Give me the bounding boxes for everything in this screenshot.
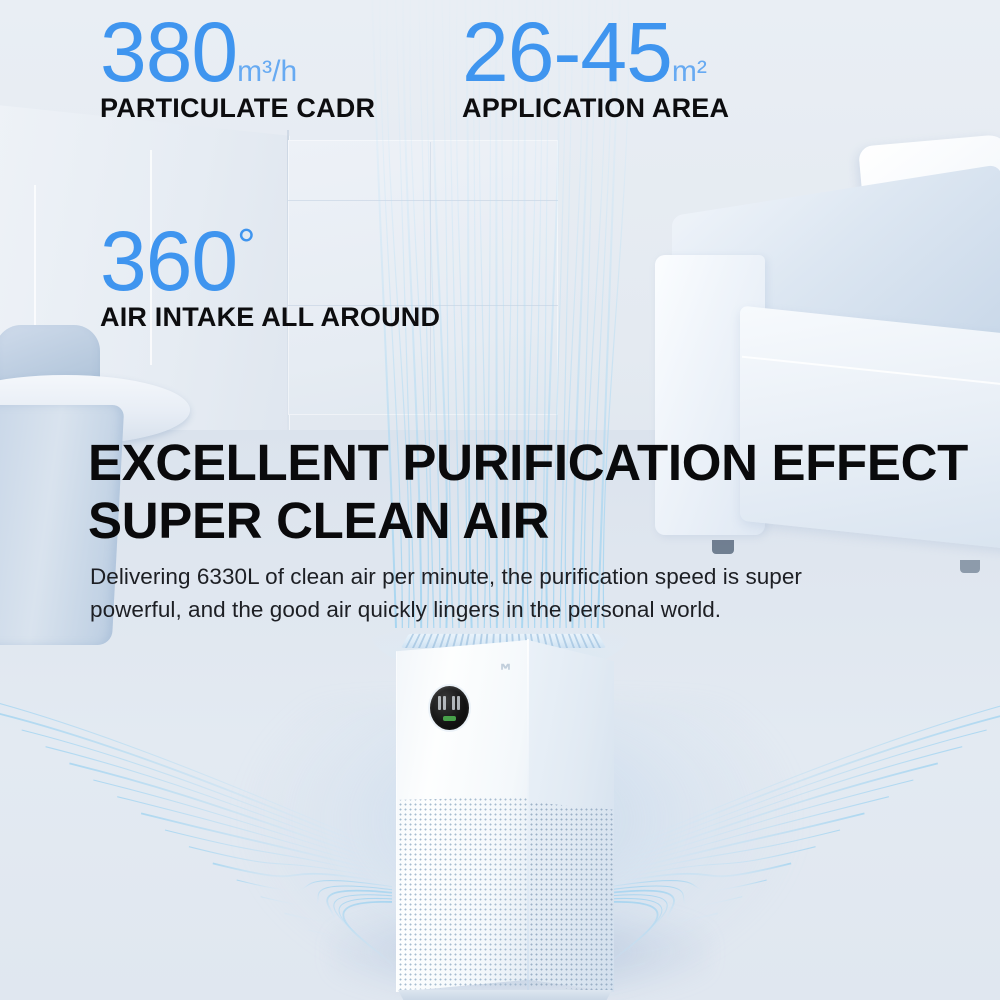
- stat-label: APPLICATION AREA: [462, 93, 729, 124]
- stat-value: 360: [100, 214, 237, 308]
- stat-particulate-cadr: 380m³/h PARTICULATE CADR: [100, 14, 375, 124]
- stat-unit: m²: [672, 55, 707, 88]
- stat-unit: m³/h: [237, 55, 297, 88]
- product-banner: 380m³/h PARTICULATE CADR 26-45m² APPLICA…: [0, 0, 1000, 1000]
- marketing-copy: 380m³/h PARTICULATE CADR 26-45m² APPLICA…: [0, 0, 1000, 1000]
- headline-line-2: SUPER CLEAN AIR: [88, 492, 968, 550]
- stat-value-row: 360°: [100, 222, 440, 300]
- headline-line-1: EXCELLENT PURIFICATION EFFECT: [88, 434, 968, 491]
- stat-label: AIR INTAKE ALL AROUND: [100, 302, 440, 333]
- stat-label: PARTICULATE CADR: [100, 93, 375, 124]
- stat-application-area: 26-45m² APPLICATION AREA: [462, 14, 729, 124]
- stat-value-row: 26-45m²: [462, 14, 729, 91]
- stat-air-intake: 360° AIR INTAKE ALL AROUND: [100, 222, 440, 333]
- stat-value: 380: [100, 5, 237, 99]
- headline: EXCELLENT PURIFICATION EFFECT SUPER CLEA…: [88, 434, 968, 549]
- stat-value: 26-45: [462, 5, 672, 99]
- body-paragraph: Delivering 6330L of clean air per minute…: [90, 560, 880, 627]
- stat-value-row: 380m³/h: [100, 14, 375, 91]
- stat-unit: °: [237, 219, 254, 271]
